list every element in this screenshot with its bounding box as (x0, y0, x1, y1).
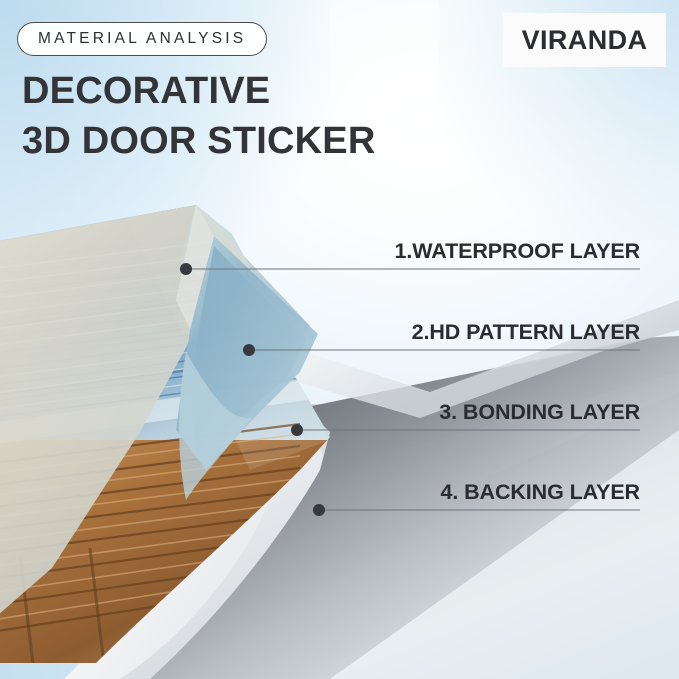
callout-dot-2 (243, 344, 255, 356)
callout-label-3: 3. BONDING LAYER (439, 400, 640, 430)
callout-dot-3 (291, 424, 303, 436)
callout-label-1: 1.WATERPROOF LAYER (395, 239, 640, 269)
callout-dot-4 (313, 504, 325, 516)
infographic-canvas: MATERIAL ANALYSIS DECORATIVE 3D DOOR STI… (0, 0, 679, 679)
brand-logo-box: VIRANDA (503, 13, 666, 67)
callout-label-4: 4. BACKING LAYER (440, 480, 640, 510)
badge-material-analysis: MATERIAL ANALYSIS (17, 22, 267, 56)
callout-dot-1 (180, 263, 192, 275)
callout-label-2: 2.HD PATTERN LAYER (412, 320, 640, 350)
page-title: DECORATIVE 3D DOOR STICKER (22, 66, 375, 166)
brand-name: VIRANDA (522, 25, 648, 56)
